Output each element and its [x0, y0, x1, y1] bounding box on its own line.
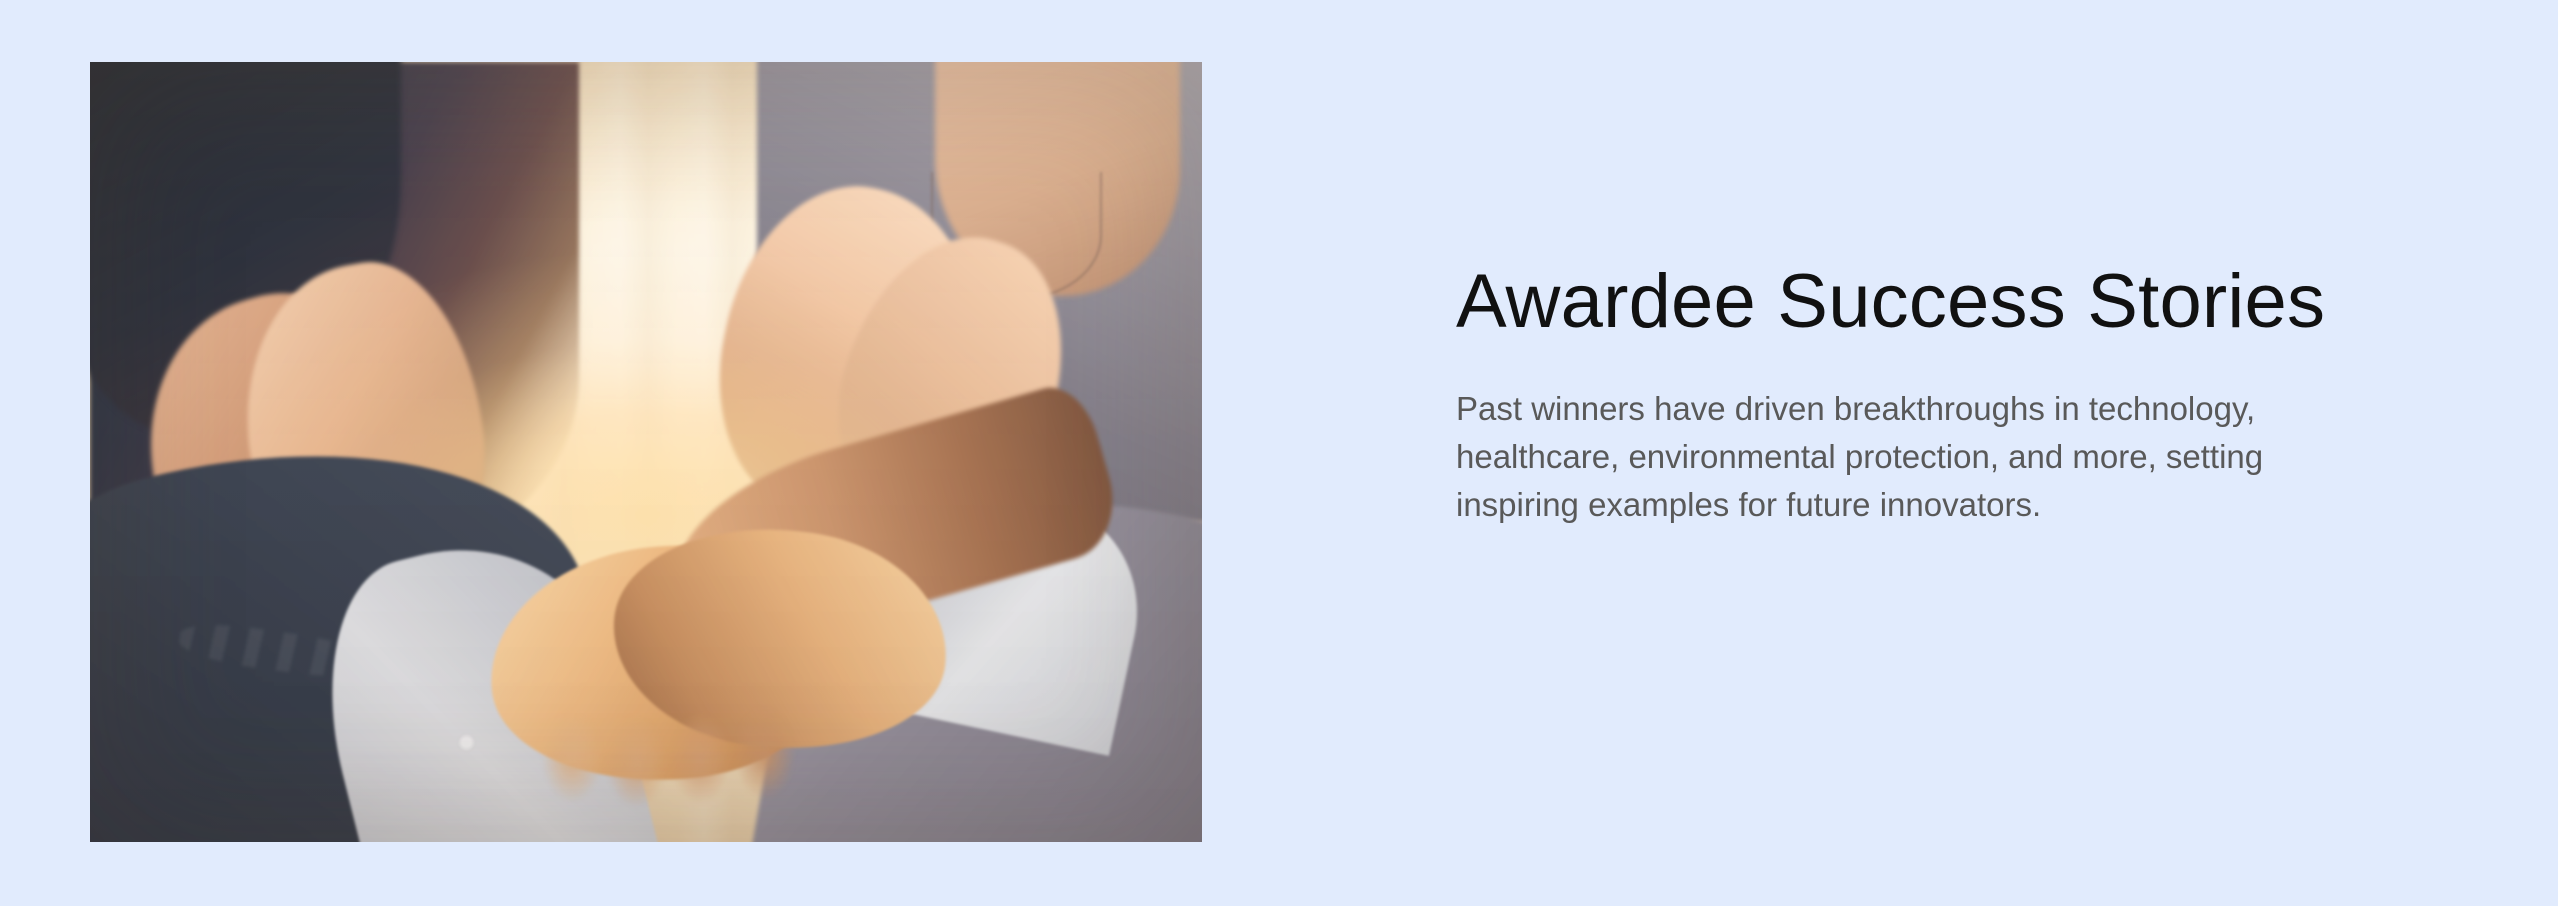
photo-vignette: [90, 62, 1202, 842]
hero-image: [90, 62, 1202, 842]
page-title: Awardee Success Stories: [1456, 262, 2396, 341]
hero-description: Past winners have driven breakthroughs i…: [1456, 385, 2396, 530]
hero-description-line: Past winners have driven breakthroughs i…: [1456, 385, 2396, 433]
hero-description-line: inspiring examples for future innovators…: [1456, 481, 2396, 529]
hero-section: Awardee Success Stories Past winners hav…: [0, 0, 2558, 906]
hero-copy: Awardee Success Stories Past winners hav…: [1456, 262, 2396, 530]
hero-description-line: healthcare, environmental protection, an…: [1456, 433, 2396, 481]
